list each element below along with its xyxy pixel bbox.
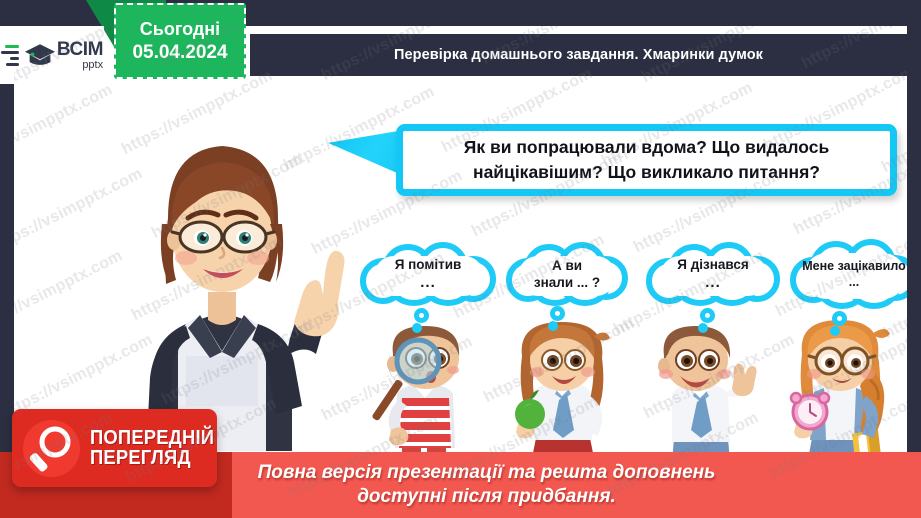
character-teacher-woman-pointing (90, 106, 355, 451)
thought-cloud-2-label: А ви знали ... ? (506, 244, 628, 306)
thought-cloud-3-bubble-b (698, 323, 708, 333)
preview-badge-text: ПОПЕРЕДНІЙ ПЕРЕГЛЯД (90, 428, 225, 469)
preview-badge-line2: ПЕРЕГЛЯД (90, 448, 214, 468)
preview-badge[interactable]: ПОПЕРЕДНІЙ ПЕРЕГЛЯД (12, 409, 217, 487)
slide-root: Як ви попрацювали вдома? Що видалось най… (0, 0, 921, 518)
graduation-cap-icon (24, 42, 54, 68)
thought-cloud-3: Я дізнався ... (646, 244, 780, 306)
preview-badge-line1: ПОПЕРЕДНІЙ (90, 428, 214, 448)
thought-cloud-4-bubble-a (832, 311, 847, 326)
logo-name: ВСІМ (57, 40, 103, 59)
thought-cloud-1-bubble-a (414, 308, 429, 323)
thought-cloud-2-bubble-b (548, 321, 558, 331)
main-speech-bubble: Як ви попрацювали вдома? Що видалось най… (396, 124, 897, 196)
thought-cloud-1-bubble-b (412, 323, 422, 333)
thought-cloud-3-label: Я дізнався ... (646, 244, 780, 306)
thought-cloud-4-bubble-b (830, 326, 840, 336)
thought-cloud-2: А ви знали ... ? (506, 244, 628, 306)
logo-subtitle: pptx (57, 60, 103, 71)
purchase-notice-line1: Повна версія презентації та решта доповн… (258, 462, 716, 483)
magnifier-icon (23, 420, 80, 477)
today-label: Сьогодні (140, 19, 220, 40)
thought-cloud-1: Я помітив ... (360, 244, 496, 306)
thought-cloud-3-bubble-a (700, 308, 715, 323)
thought-cloud-4: Мене зацікавило ... (790, 241, 907, 309)
page-title: Перевірка домашнього завдання. Хмаринки … (394, 47, 763, 63)
today-value: 05.04.2024 (132, 42, 227, 64)
purchase-notice-text: Повна версія презентації та решта доповн… (258, 461, 716, 509)
thought-cloud-1-label: Я помітив ... (360, 244, 496, 306)
header-bar: Перевірка домашнього завдання. Хмаринки … (250, 34, 907, 76)
brand-logo: ВСІМ pptx (0, 26, 104, 84)
main-speech-bubble-text: Як ви попрацювали вдома? Що видалось най… (403, 135, 890, 185)
thought-cloud-2-bubble-a (550, 306, 565, 321)
purchase-notice-line2: доступні після придбання. (357, 486, 616, 507)
today-date-badge: Сьогодні 05.04.2024 (114, 3, 246, 79)
speed-lines-icon (1, 45, 21, 66)
thought-cloud-4-label: Мене зацікавило ... (790, 241, 907, 309)
